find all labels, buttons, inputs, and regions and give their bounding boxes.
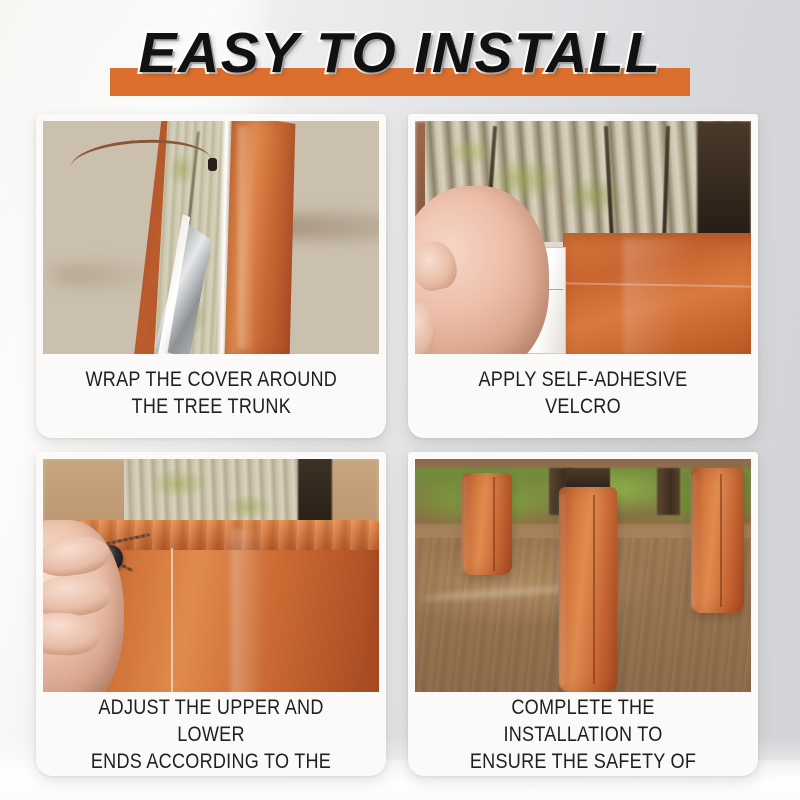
step-caption-3-text: ADJUST THE UPPER AND LOWER ENDS ACCORDIN… bbox=[75, 694, 347, 776]
photo-finished-orchard bbox=[415, 459, 751, 692]
step-caption-2: APPLY SELF-ADHESIVE VELCRO bbox=[415, 354, 751, 438]
thumb bbox=[415, 300, 438, 354]
step-caption-2-text: APPLY SELF-ADHESIVE VELCRO bbox=[447, 366, 719, 420]
wrapped-tree-center bbox=[559, 487, 616, 692]
fabric-highlight bbox=[691, 473, 699, 609]
index-finger bbox=[415, 238, 461, 294]
photo-apply-velcro bbox=[415, 121, 751, 354]
step-card-1[interactable]: WRAP THE COVER AROUND THE TREE TRUNK bbox=[36, 114, 386, 438]
infographic-canvas: EASY TO INSTALL WRAP T bbox=[0, 0, 800, 800]
step-caption-1: WRAP THE COVER AROUND THE TREE TRUNK bbox=[43, 354, 379, 438]
wrapped-tree-left bbox=[462, 473, 512, 576]
photo-adjust-drawstring bbox=[43, 459, 379, 692]
step-card-2[interactable]: APPLY SELF-ADHESIVE VELCRO bbox=[408, 114, 758, 438]
title-text: EASY TO INSTALL bbox=[0, 18, 800, 88]
fabric-seam bbox=[720, 474, 722, 607]
fabric-seam bbox=[593, 495, 595, 684]
step-caption-4: COMPLETE THE INSTALLATION TO ENSURE THE … bbox=[415, 692, 751, 776]
hand bbox=[415, 186, 549, 354]
background-tree-trunk bbox=[657, 468, 681, 515]
wrapped-tree-right bbox=[691, 468, 745, 612]
fabric-highlight bbox=[238, 126, 255, 350]
page-title: EASY TO INSTALL bbox=[0, 18, 800, 102]
fabric-highlight bbox=[559, 493, 567, 686]
bark-shadow-side bbox=[697, 121, 751, 247]
fabric-highlight bbox=[231, 529, 265, 692]
cord-toggle bbox=[208, 158, 217, 171]
fabric-seam bbox=[493, 477, 495, 571]
fabric-highlight bbox=[623, 238, 724, 355]
orange-cover-body bbox=[224, 121, 298, 354]
step-card-3[interactable]: ADJUST THE UPPER AND LOWER ENDS ACCORDIN… bbox=[36, 452, 386, 776]
fabric-highlight bbox=[462, 476, 469, 572]
fabric-seam bbox=[171, 548, 173, 692]
steps-grid: WRAP THE COVER AROUND THE TREE TRUNK bbox=[36, 114, 764, 774]
photo-wrap-cover-around-trunk bbox=[43, 121, 379, 354]
step-card-4[interactable]: COMPLETE THE INSTALLATION TO ENSURE THE … bbox=[408, 452, 758, 776]
step-caption-3: ADJUST THE UPPER AND LOWER ENDS ACCORDIN… bbox=[43, 692, 379, 776]
step-caption-4-text: COMPLETE THE INSTALLATION TO ENSURE THE … bbox=[447, 694, 719, 776]
step-caption-1-text: WRAP THE COVER AROUND THE TREE TRUNK bbox=[85, 366, 337, 420]
